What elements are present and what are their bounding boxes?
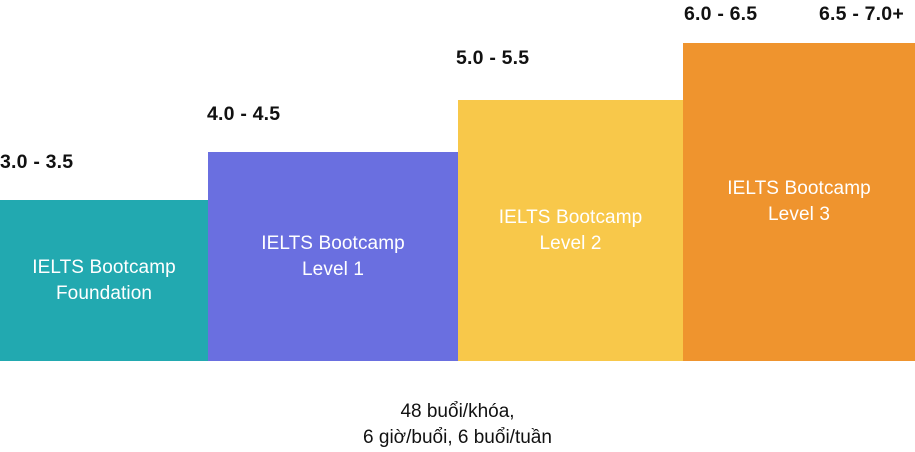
score-range-level-2: 5.0 - 5.5 [456, 47, 529, 70]
bar-ielts-bootcamp-foundation: IELTS Bootcamp Foundation [0, 200, 208, 361]
score-range-outcome: 6.5 - 7.0+ [819, 3, 904, 26]
course-schedule-caption: 48 buổi/khóa, 6 giờ/buổi, 6 buổi/tuần [0, 399, 915, 450]
bar-label-level-3: IELTS Bootcamp Level 3 [727, 176, 871, 227]
bar-label-level-2: IELTS Bootcamp Level 2 [499, 205, 643, 256]
score-range-level-1: 4.0 - 4.5 [207, 103, 280, 126]
bar-ielts-bootcamp-level-2: IELTS Bootcamp Level 2 [458, 100, 683, 361]
bar-label-level-1: IELTS Bootcamp Level 1 [261, 231, 405, 282]
bar-ielts-bootcamp-level-1: IELTS Bootcamp Level 1 [208, 152, 458, 361]
bar-label-foundation: IELTS Bootcamp Foundation [32, 255, 176, 306]
bar-ielts-bootcamp-level-3: IELTS Bootcamp Level 3 [683, 43, 915, 361]
score-range-foundation: 3.0 - 3.5 [0, 151, 73, 174]
ielts-bootcamp-level-chart: IELTS Bootcamp Foundation 3.0 - 3.5 IELT… [0, 0, 915, 452]
score-range-level-3: 6.0 - 6.5 [684, 3, 757, 26]
